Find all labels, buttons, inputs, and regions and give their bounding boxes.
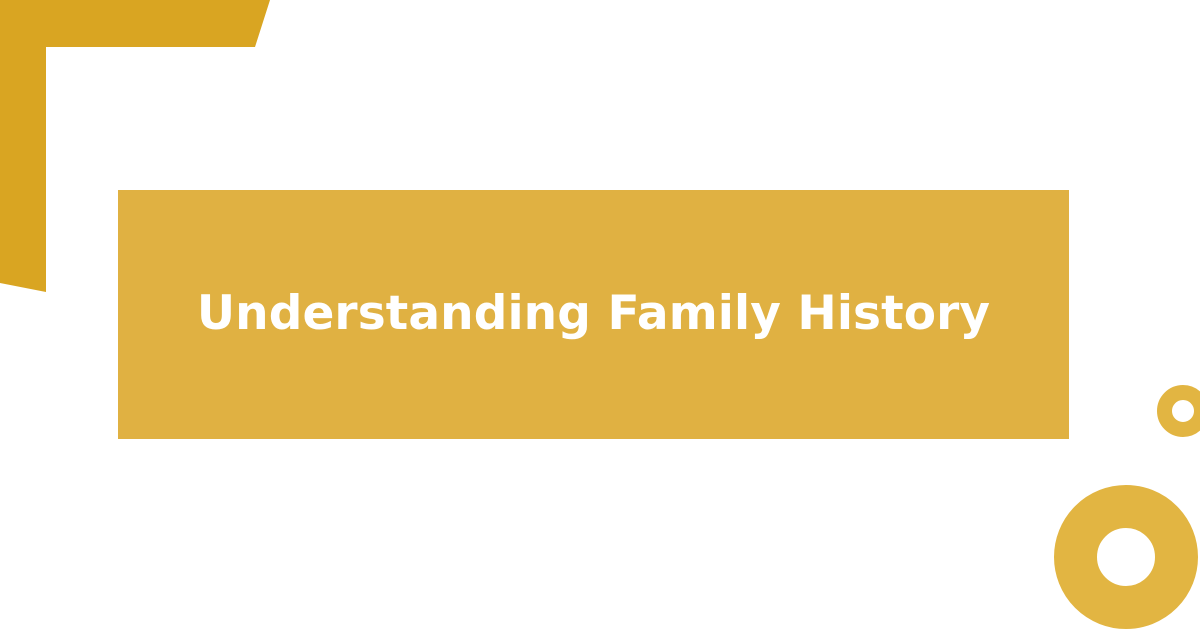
ring-small-icon — [1157, 385, 1200, 437]
ring-large-icon — [1054, 485, 1198, 629]
title-banner: Understanding Family History — [118, 190, 1069, 439]
page-title: Understanding Family History — [169, 287, 1018, 341]
cover-canvas: Understanding Family History — [0, 0, 1200, 630]
